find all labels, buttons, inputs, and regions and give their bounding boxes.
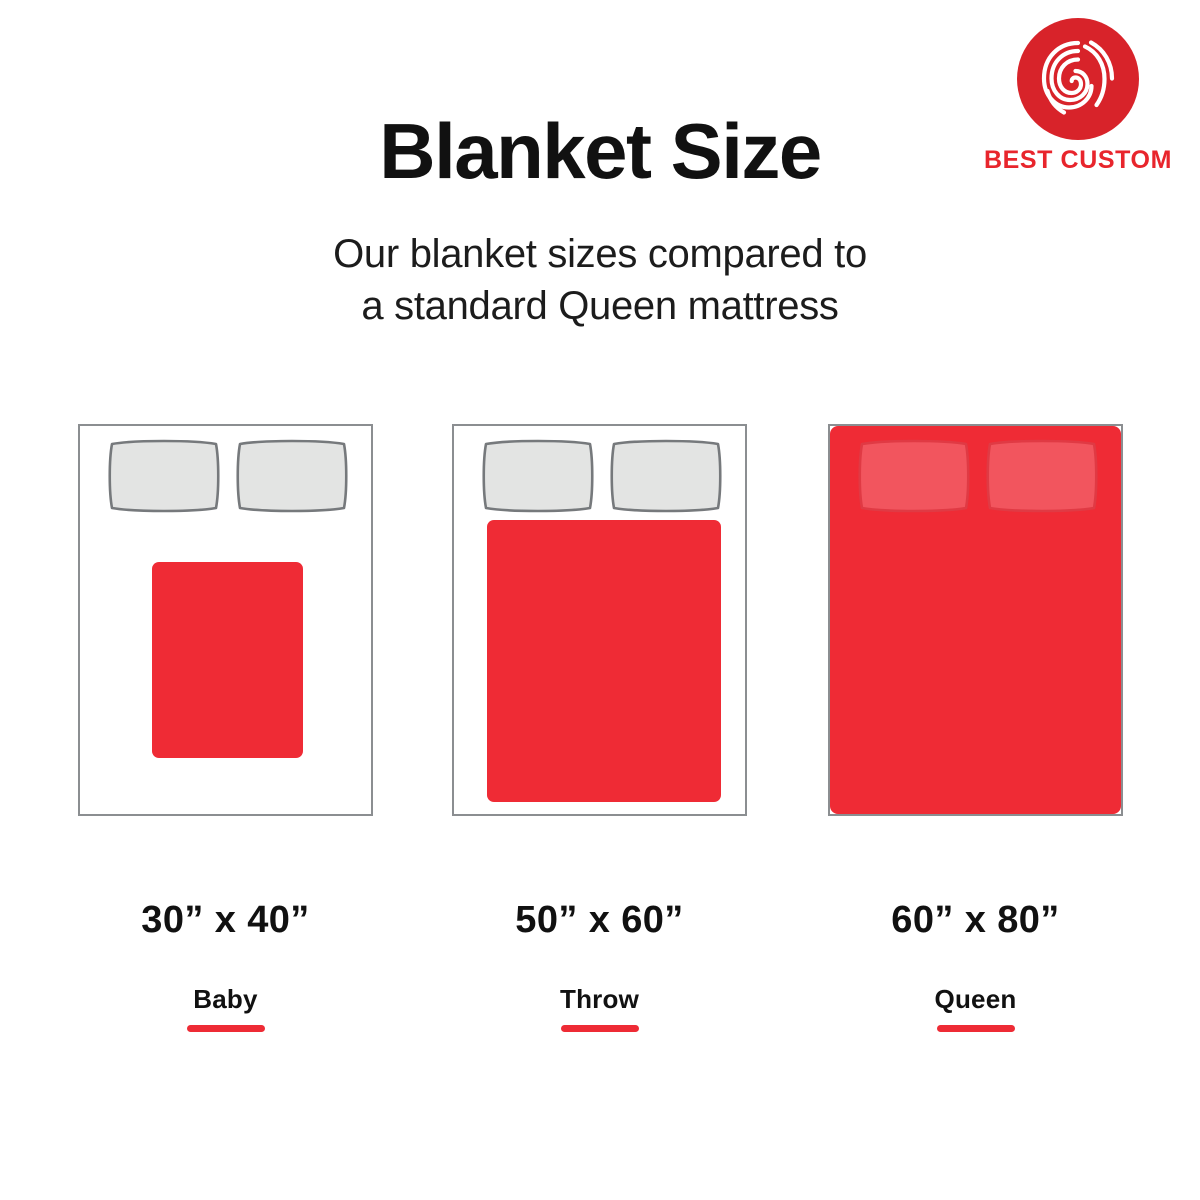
bed-diagram-baby bbox=[78, 424, 373, 816]
pillow-icon bbox=[479, 438, 597, 514]
pillow-icon bbox=[983, 438, 1101, 514]
page-subtitle: Our blanket sizes compared to a standard… bbox=[0, 228, 1200, 332]
caption-row: 30” x 40” Baby 50” x 60” Throw 60” x 80”… bbox=[0, 898, 1200, 1048]
bed-diagram-queen bbox=[828, 424, 1123, 816]
blanket-shape-throw bbox=[487, 520, 721, 802]
underline-rule bbox=[187, 1025, 265, 1032]
caption-throw: 50” x 60” Throw bbox=[452, 898, 747, 1032]
size-name: Throw bbox=[452, 984, 747, 1014]
blanket-shape-baby bbox=[152, 562, 303, 758]
pillow-icon bbox=[105, 438, 223, 514]
page-title: Blanket Size bbox=[0, 108, 1200, 194]
pillow-icon bbox=[855, 438, 973, 514]
caption-baby: 30” x 40” Baby bbox=[78, 898, 373, 1032]
underline-rule bbox=[937, 1025, 1015, 1032]
size-dimensions: 30” x 40” bbox=[78, 898, 373, 942]
pillow-icon bbox=[607, 438, 725, 514]
bed-diagram-row bbox=[0, 424, 1200, 816]
underline-rule bbox=[561, 1025, 639, 1032]
infographic-canvas: BEST CUSTOM Blanket Size Our blanket siz… bbox=[0, 0, 1200, 1200]
size-dimensions: 50” x 60” bbox=[452, 898, 747, 942]
size-name: Queen bbox=[828, 984, 1123, 1014]
pillow-icon bbox=[233, 438, 351, 514]
bed-diagram-throw bbox=[452, 424, 747, 816]
caption-queen: 60” x 80” Queen bbox=[828, 898, 1123, 1032]
size-dimensions: 60” x 80” bbox=[828, 898, 1123, 942]
size-name: Baby bbox=[78, 984, 373, 1014]
